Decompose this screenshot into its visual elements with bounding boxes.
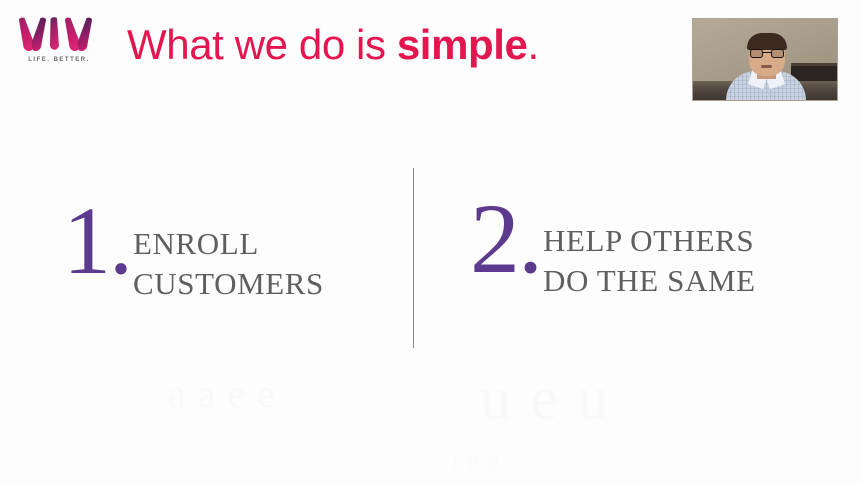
presenter-mouth bbox=[761, 65, 772, 68]
step-2-line-2: DO THE SAME bbox=[543, 261, 756, 301]
presenter-hair bbox=[747, 33, 787, 50]
headline-lead: What we do is bbox=[127, 21, 397, 68]
presentation-slide: a a e e u e u i e e bbox=[0, 0, 862, 485]
presenter-webcam-overlay[interactable] bbox=[692, 18, 838, 101]
viv-wordmark-icon bbox=[17, 17, 99, 53]
headline-emphasis: simple bbox=[397, 21, 528, 68]
step-2-line-1: HELP OTHERS bbox=[543, 221, 756, 261]
glasses-lens-right bbox=[771, 49, 784, 58]
step-1-line-1: ENROLL bbox=[133, 224, 324, 264]
step-1-line-2: CUSTOMERS bbox=[133, 264, 324, 304]
brand-logo: LIFE. BETTER. bbox=[17, 17, 101, 71]
slide-headline: What we do is simple. bbox=[127, 20, 539, 70]
step-2-label: HELP OTHERS DO THE SAME bbox=[543, 221, 756, 301]
step-1-label: ENROLL CUSTOMERS bbox=[133, 224, 324, 304]
step-1-number: 1. bbox=[63, 204, 131, 278]
presenter-glasses-icon bbox=[750, 49, 784, 58]
ghost-text-line-b: u e u bbox=[480, 364, 611, 435]
steps-container: 1. ENROLL CUSTOMERS 2. HELP OTHERS DO TH… bbox=[0, 160, 862, 350]
glasses-bridge bbox=[763, 52, 771, 53]
step-item-2: 2. HELP OTHERS DO THE SAME bbox=[470, 202, 756, 301]
step-2-number: 2. bbox=[470, 200, 541, 278]
glasses-lens-left bbox=[750, 49, 763, 58]
ghost-text-line-a: a a e e bbox=[168, 370, 276, 417]
ghost-text-line-c: i e e bbox=[452, 446, 500, 476]
column-divider bbox=[413, 168, 414, 348]
headline-trailing: . bbox=[528, 21, 539, 68]
step-item-1: 1. ENROLL CUSTOMERS bbox=[63, 206, 324, 304]
brand-tagline: LIFE. BETTER. bbox=[17, 57, 101, 63]
ghost-transition-overlay: a a e e u e u i e e bbox=[0, 368, 862, 485]
